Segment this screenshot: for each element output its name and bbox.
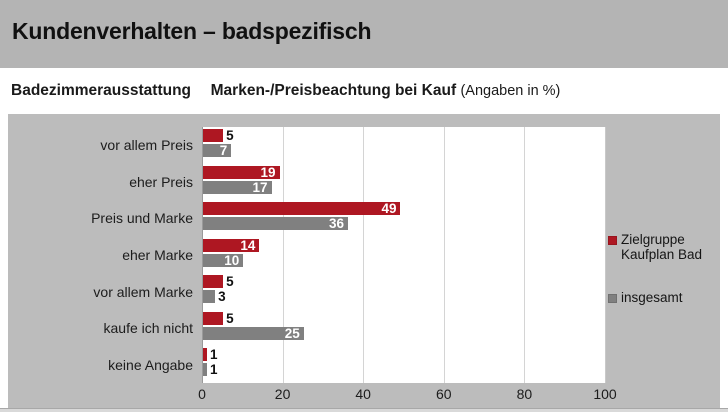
category-label: vor allem Preis (8, 137, 193, 153)
bar-value-label: 10 (224, 254, 239, 267)
x-tick-label-80: 80 (517, 386, 533, 402)
bar-rows: 571917493614105352511 (203, 127, 606, 383)
legend-insgesamt[interactable]: insgesamt (608, 290, 683, 305)
x-tick-label-60: 60 (436, 386, 452, 402)
subtitle-unit-note: (Angaben in %) (460, 83, 560, 99)
bar-value-label: 19 (261, 166, 276, 179)
category-label: Preis und Marke (8, 210, 193, 226)
category-axis: vor allem Preiseher PreisPreis und Marke… (8, 127, 193, 383)
bar-row: 4936 (203, 200, 606, 237)
chart-subtitle: Badezimmerausstattung Marken-/Preisbeach… (11, 82, 560, 100)
x-tick-label-40: 40 (355, 386, 371, 402)
bottom-divider (0, 408, 728, 412)
bar-primary: 1 (203, 348, 207, 361)
bar-primary: 5 (203, 129, 223, 142)
bar-value-label: 5 (226, 275, 234, 288)
bar-row: 11 (203, 346, 606, 383)
legend-swatch-icon (608, 236, 617, 245)
bar-value-label: 5 (226, 129, 234, 142)
bar-primary: 49 (203, 202, 400, 215)
page-title: Kundenverhalten – badspezifisch (12, 18, 371, 45)
bar-row: 1917 (203, 164, 606, 201)
legend-zielgruppe[interactable]: Zielgruppe Kaufplan Bad (608, 232, 702, 262)
subtitle-topic: Marken-/Preisbeachtung bei Kauf (211, 82, 456, 99)
bar-secondary: 25 (203, 327, 304, 340)
bar-secondary: 1 (203, 363, 207, 376)
x-tick-label-0: 0 (198, 386, 206, 402)
legend-label: insgesamt (621, 290, 683, 305)
bar-row: 57 (203, 127, 606, 164)
bar-row: 1410 (203, 237, 606, 274)
category-label: eher Marke (8, 247, 193, 263)
bar-row: 53 (203, 273, 606, 310)
bar-value-label: 17 (252, 181, 267, 194)
bar-primary: 5 (203, 312, 223, 325)
bar-value-label: 3 (218, 290, 226, 303)
bar-secondary: 7 (203, 144, 231, 157)
category-label: vor allem Marke (8, 284, 193, 300)
category-label: keine Angabe (8, 357, 193, 373)
x-tick-label-20: 20 (275, 386, 291, 402)
plot-area: 571917493614105352511 (202, 127, 606, 383)
category-label: kaufe ich nicht (8, 320, 193, 336)
bar-primary: 14 (203, 239, 259, 252)
bar-value-label: 1 (210, 363, 218, 376)
bar-value-label: 7 (220, 144, 228, 157)
category-label: eher Preis (8, 174, 193, 190)
bar-secondary: 3 (203, 290, 215, 303)
bar-secondary: 36 (203, 217, 348, 230)
bar-primary: 5 (203, 275, 223, 288)
value-axis: 020406080100 (202, 386, 605, 408)
header-band: Kundenverhalten – badspezifisch (0, 0, 728, 68)
bar-value-label: 1 (210, 348, 218, 361)
subtitle-strip: Badezimmerausstattung Marken-/Preisbeach… (0, 68, 728, 114)
legend-swatch-icon (608, 294, 617, 303)
bar-value-label: 14 (240, 239, 255, 252)
bar-value-label: 49 (381, 202, 396, 215)
subtitle-category: Badezimmerausstattung (11, 82, 191, 99)
bar-value-label: 25 (285, 327, 300, 340)
bar-row: 525 (203, 310, 606, 347)
bar-secondary: 17 (203, 181, 272, 194)
bar-primary: 19 (203, 166, 280, 179)
legend-label: Zielgruppe Kaufplan Bad (621, 232, 702, 262)
x-tick-label-100: 100 (593, 386, 616, 402)
bar-secondary: 10 (203, 254, 243, 267)
bar-value-label: 5 (226, 312, 234, 325)
bar-value-label: 36 (329, 217, 344, 230)
